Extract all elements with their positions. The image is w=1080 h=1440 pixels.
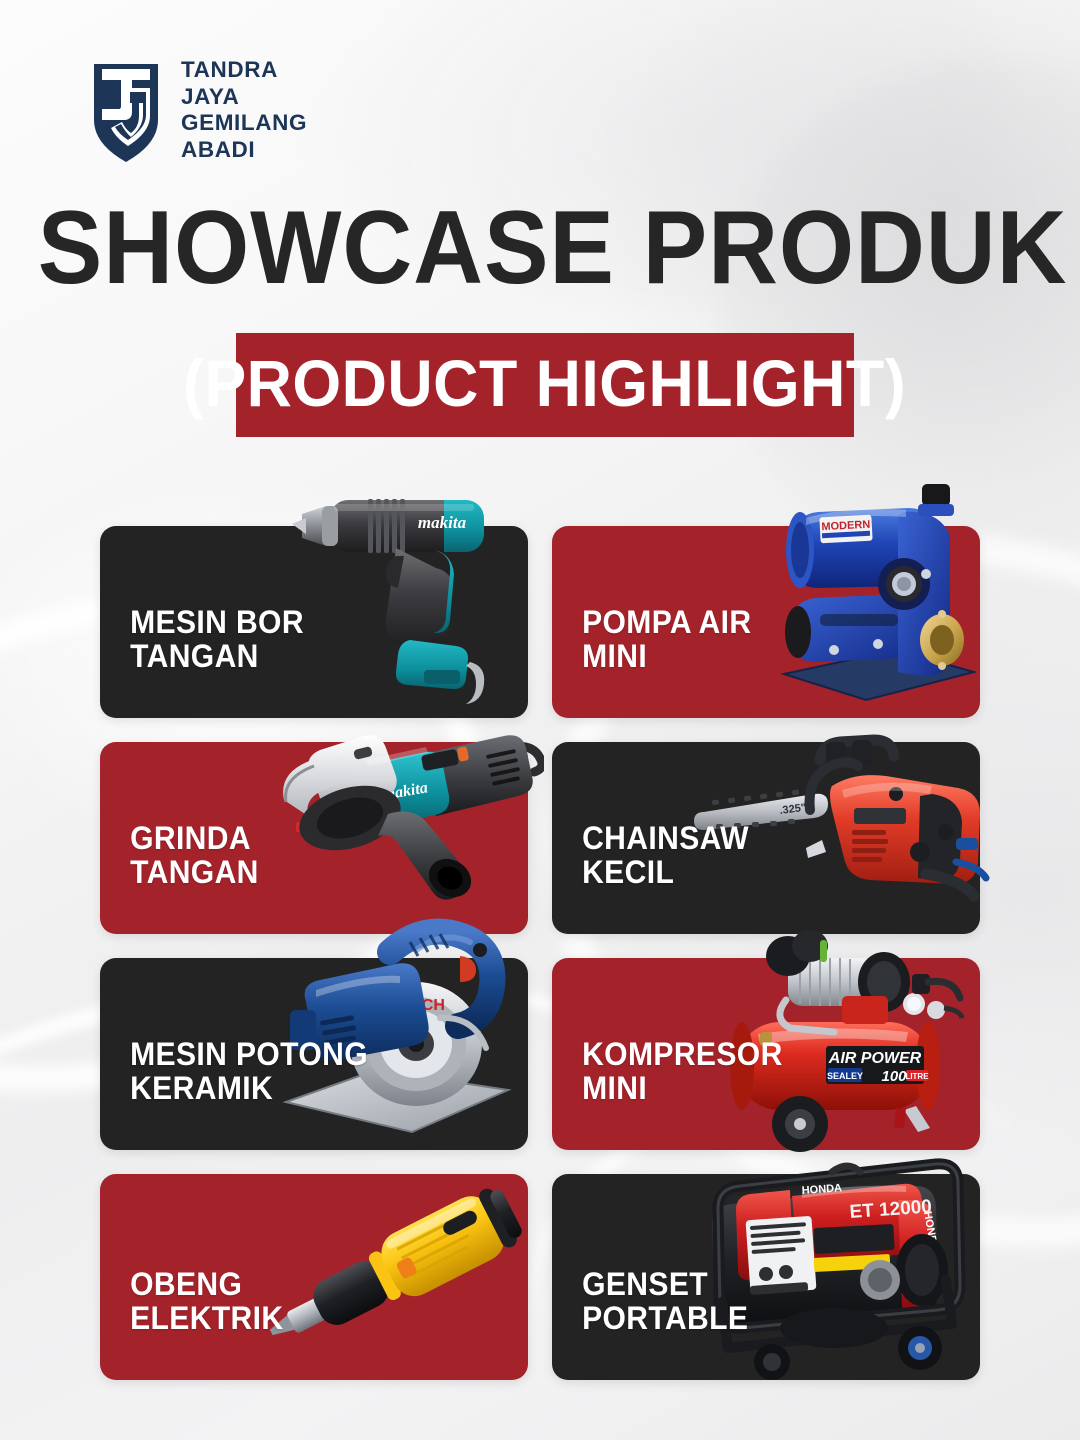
- blue-mini-water-pump-photo: MODERN: [736, 478, 976, 728]
- background-shape-icon: [720, 60, 1080, 580]
- product-card-pompa-air-mini[interactable]: POMPA AIR MINI: [552, 526, 980, 718]
- svg-text:100: 100: [881, 1068, 907, 1085]
- product-card-kompresor-mini[interactable]: KOMPRESOR MINI: [552, 958, 980, 1150]
- product-label: GRINDA TANGAN: [100, 821, 259, 934]
- svg-text:makita: makita: [418, 513, 467, 532]
- page-subtitle: (PRODUCT HIGHLIGHT): [183, 350, 906, 420]
- svg-text:MODERN: MODERN: [821, 519, 871, 534]
- product-label: POMPA AIR MINI: [552, 605, 751, 718]
- product-card-mesin-potong-keramik[interactable]: MESIN POTONG KERAMIK: [100, 958, 528, 1150]
- brand-logo: TANDRA JAYA GEMILANG ABADI: [86, 58, 307, 166]
- product-label: MESIN BOR TANGAN: [100, 605, 304, 718]
- svg-text:makita: makita: [381, 779, 429, 804]
- brand-line-4: ABADI: [181, 139, 307, 162]
- svg-text:.325": .325": [779, 802, 807, 817]
- brand-name: TANDRA JAYA GEMILANG ABADI: [181, 59, 307, 165]
- page-subtitle-banner: (PRODUCT HIGHLIGHT): [236, 333, 854, 437]
- product-grid: MESIN BOR TANGAN: [100, 526, 980, 1380]
- poster-root: TANDRA JAYA GEMILANG ABADI SHOWCASE PROD…: [0, 0, 1080, 1440]
- product-card-mesin-bor-tangan[interactable]: MESIN BOR TANGAN: [100, 526, 528, 718]
- product-label: KOMPRESOR MINI: [552, 1037, 783, 1150]
- product-label: MESIN POTONG KERAMIK: [100, 1037, 368, 1150]
- makita-angle-grinder-photo: makita: [254, 718, 544, 918]
- svg-text:BOSCH: BOSCH: [387, 997, 445, 1014]
- product-label: OBENG ELEKTRIK: [100, 1267, 283, 1380]
- product-label: CHAINSAW KECIL: [552, 821, 749, 934]
- svg-text:LITRE: LITRE: [905, 1072, 929, 1081]
- product-label: GENSET PORTABLE: [552, 1267, 748, 1380]
- product-card-obeng-elektrik[interactable]: OBENG ELEKTRIK: [100, 1174, 528, 1380]
- makita-cordless-drill-photo: makita: [284, 484, 534, 724]
- tjg-shield-monogram-icon: [86, 58, 166, 166]
- product-card-grinda-tangan[interactable]: GRINDA TANGAN: [100, 742, 528, 934]
- svg-text:ET 12000: ET 12000: [849, 1196, 933, 1223]
- svg-text:AIR POWER: AIR POWER: [828, 1050, 922, 1067]
- yellow-electric-screwdriver-photo: [250, 1168, 540, 1368]
- svg-text:HONDA: HONDA: [801, 1182, 842, 1197]
- product-card-chainsaw-kecil[interactable]: CHAINSAW KECIL: [552, 742, 980, 934]
- svg-text:SEALEY: SEALEY: [827, 1071, 863, 1081]
- brand-line-2: JAYA: [181, 86, 307, 109]
- svg-text:HONDA: HONDA: [921, 1210, 940, 1252]
- brand-line-1: TANDRA: [181, 59, 307, 82]
- product-card-genset-portable[interactable]: GENSET PORTABLE: [552, 1174, 980, 1380]
- page-title: SHOWCASE PRODUK: [38, 196, 1042, 300]
- brand-line-3: GEMILANG: [181, 112, 307, 135]
